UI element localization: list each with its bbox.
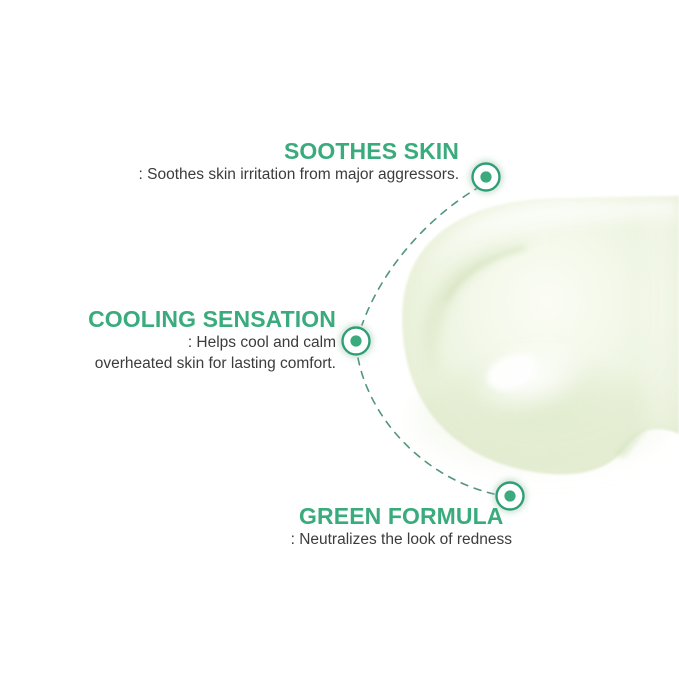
feature-description-line: : Helps cool and calm bbox=[88, 333, 336, 354]
feature-heading: SOOTHES SKIN bbox=[139, 138, 459, 165]
marker-cooling-sensation[interactable] bbox=[343, 328, 370, 355]
infographic-canvas: SOOTHES SKIN : Soothes skin irritation f… bbox=[0, 0, 679, 679]
feature-cooling-sensation: COOLING SENSATION : Helps cool and calm … bbox=[88, 306, 336, 375]
feature-heading: GREEN FORMULA bbox=[291, 503, 512, 530]
feature-soothes-skin: SOOTHES SKIN : Soothes skin irritation f… bbox=[139, 138, 459, 186]
feature-description: : Helps cool and calm overheated skin fo… bbox=[88, 333, 336, 375]
feature-description-line: : Neutralizes the look of redness bbox=[291, 530, 512, 551]
feature-heading: COOLING SENSATION bbox=[88, 306, 336, 333]
connector-cooling-to-green bbox=[358, 358, 494, 494]
feature-description: : Soothes skin irritation from major agg… bbox=[139, 165, 459, 186]
feature-description-line: : Soothes skin irritation from major agg… bbox=[139, 165, 459, 186]
feature-description: : Neutralizes the look of redness bbox=[291, 530, 512, 551]
marker-soothes-skin[interactable] bbox=[473, 164, 500, 191]
feature-description-line: overheated skin for lasting comfort. bbox=[88, 354, 336, 375]
connector-soothes-to-cooling bbox=[362, 186, 481, 325]
feature-green-formula: GREEN FORMULA : Neutralizes the look of … bbox=[291, 503, 512, 551]
